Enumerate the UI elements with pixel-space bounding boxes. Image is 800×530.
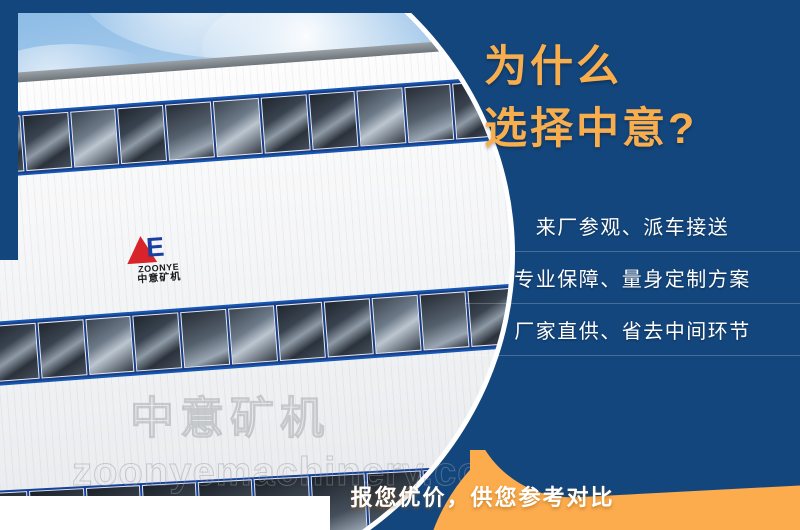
feature-item: 来厂参观、派车接送: [465, 200, 800, 252]
logo-letter-e: E: [145, 234, 165, 262]
headline-line-2: 选择中意?: [484, 98, 784, 160]
feature-item: 厂家直供、省去中间环节: [465, 304, 800, 356]
promo-banner: E ZOONYE 中意矿机 中意矿机 zoonyemachinery.com 为…: [0, 0, 800, 530]
top-edge-strip: [0, 0, 440, 13]
window-pane: [419, 292, 469, 351]
window-pane: [37, 320, 87, 379]
window-pane: [85, 316, 135, 375]
window-pane: [165, 102, 215, 161]
logo-mark: E: [119, 230, 195, 265]
left-edge-strip: [0, 0, 18, 260]
window-pane: [276, 302, 326, 361]
zoonye-wall-logo: E ZOONYE 中意矿机: [119, 230, 196, 286]
window-pane: [404, 84, 454, 143]
window-pane: [260, 95, 310, 154]
bottom-banner-text: 报您优价，供您参考对比: [0, 480, 800, 512]
window-pane: [0, 323, 39, 382]
window-pane: [356, 88, 406, 147]
window-pane: [132, 313, 182, 372]
window-pane: [323, 299, 373, 358]
headline-line-1: 为什么: [484, 43, 622, 91]
feature-list: 来厂参观、派车接送 专业保障、量身定制方案 厂家直供、省去中间环节: [465, 200, 800, 356]
window-pane: [69, 109, 119, 168]
window-pane: [180, 309, 230, 368]
window-pane: [117, 105, 167, 164]
window-pane: [308, 91, 358, 150]
window-pane: [228, 306, 278, 365]
feature-item: 专业保障、量身定制方案: [465, 252, 800, 304]
window-pane: [22, 112, 72, 171]
headline: 为什么 选择中意?: [484, 36, 784, 160]
window-pane: [213, 98, 263, 157]
window-pane: [371, 295, 421, 354]
